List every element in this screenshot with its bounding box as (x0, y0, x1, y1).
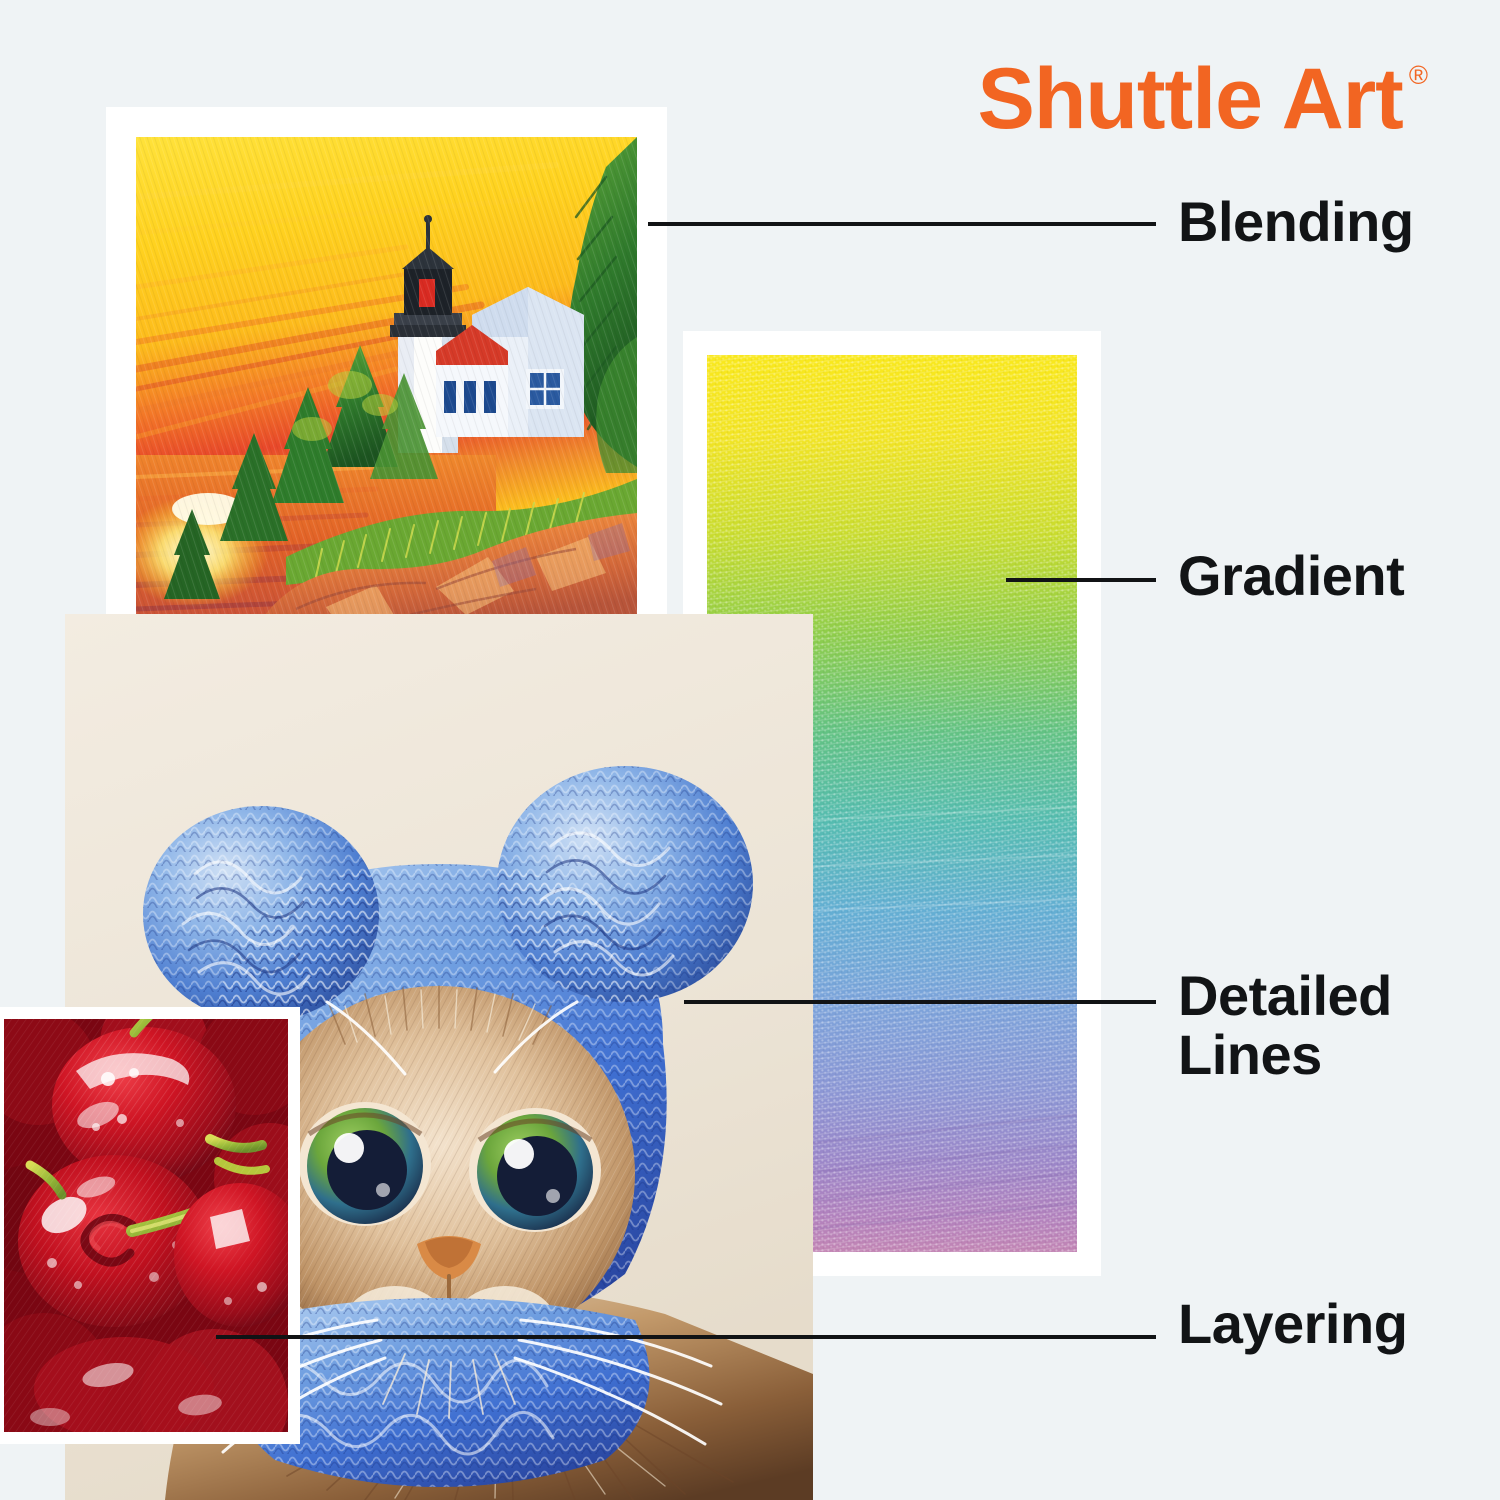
callout-label-blending: Blending (1178, 192, 1414, 251)
marketing-image-canvas: Blending Gradient Detailed Lines Layerin… (0, 0, 1500, 1500)
leader-line-layering (216, 1335, 1156, 1339)
callout-label-layering: Layering (1178, 1294, 1407, 1353)
lighthouse-artwork-panel (106, 107, 667, 627)
leader-line-blending (648, 222, 1156, 226)
registered-trademark-icon: ® (1409, 60, 1428, 91)
brand-name: Shuttle Art (977, 56, 1402, 142)
callout-label-detailed-lines: Detailed Lines (1178, 966, 1392, 1085)
lighthouse-artwork (136, 137, 637, 627)
callout-label-gradient: Gradient (1178, 546, 1404, 605)
cherries-artwork (4, 1019, 288, 1432)
leader-line-gradient (1006, 578, 1156, 582)
leader-line-detailed-lines (684, 1000, 1156, 1004)
brand-logo: Shuttle Art ® (977, 56, 1428, 142)
cherries-artwork-panel (0, 1007, 300, 1444)
